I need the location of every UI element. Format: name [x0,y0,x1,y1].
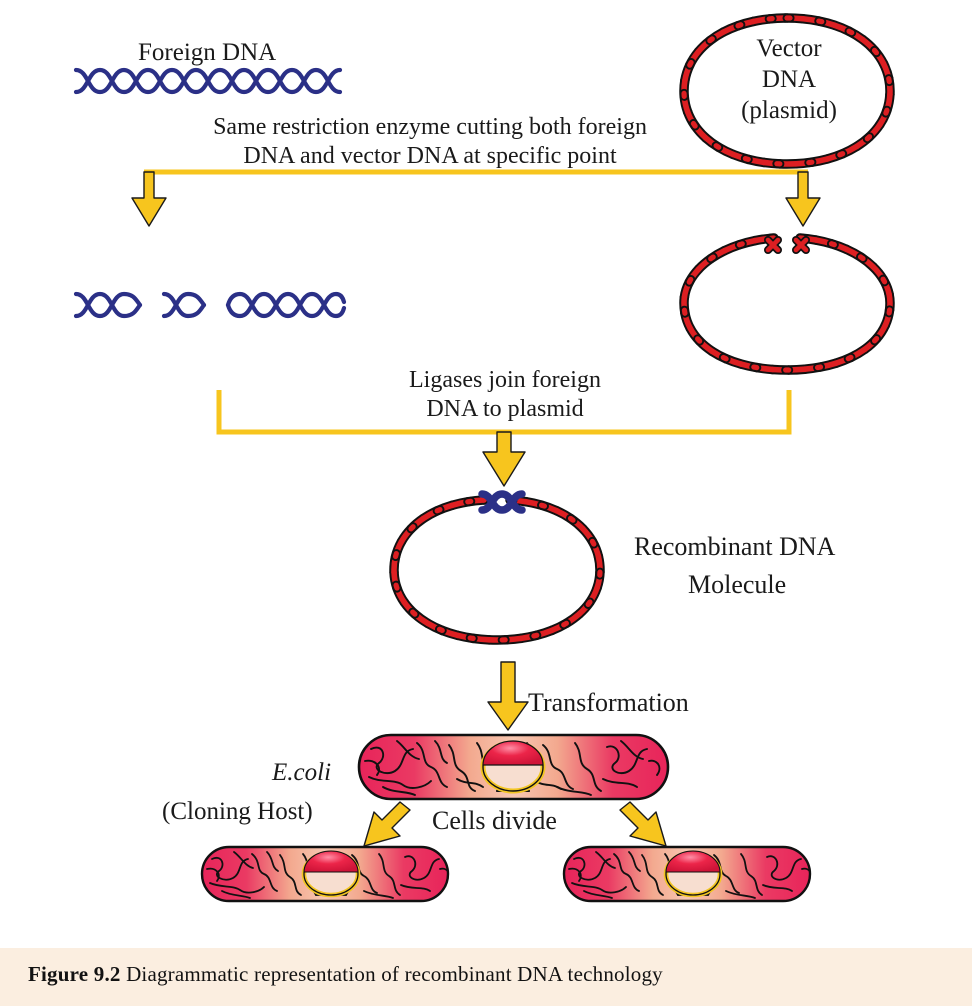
vector-dna-label-line1: Vector [737,34,841,64]
ecoli-daughter-cell-left [200,845,450,903]
cells-divide-label: Cells divide [432,806,557,837]
vector-dna-label-line3: (plasmid) [733,96,845,126]
ecoli-daughter-cell-right [562,845,812,903]
transformation-arrow [486,660,530,732]
diagram-canvas: Foreign DNA [0,0,972,1006]
cloning-host-label: (Cloning Host) [162,797,313,827]
nucleoid [483,741,543,791]
figure-caption-band: Figure 9.2 Diagrammatic representation o… [0,948,972,1006]
dna-fragment-1 [74,288,144,322]
ecoli-parent-cell [357,733,670,801]
transformation-label: Transformation [528,688,689,719]
foreign-dna-helix [74,62,344,100]
foreign-dna-insert [482,494,522,510]
ligase-bracket [216,390,792,490]
vector-dna-label-line2: DNA [737,65,841,95]
figure-number: Figure 9.2 [28,962,121,986]
recombinant-dna-label-line2: Molecule [688,570,786,601]
nucleoid [666,851,720,895]
figure-caption-text: Diagrammatic representation of recombina… [126,962,663,986]
dna-fragment-3 [226,288,346,322]
dna-fragment-2 [162,288,208,322]
recombinant-dna-molecule [382,490,612,650]
ecoli-label: E.coli [272,758,331,788]
restriction-enzyme-label-line1: Same restriction enzyme cutting both for… [120,113,740,141]
recombinant-dna-label-line1: Recombinant DNA [634,532,835,563]
figure-caption: Figure 9.2 Diagrammatic representation o… [28,962,948,987]
cut-vector-plasmid [672,228,902,378]
restriction-enzyme-label-line2: DNA and vector DNA at specific point [120,142,740,170]
nucleoid [304,851,358,895]
